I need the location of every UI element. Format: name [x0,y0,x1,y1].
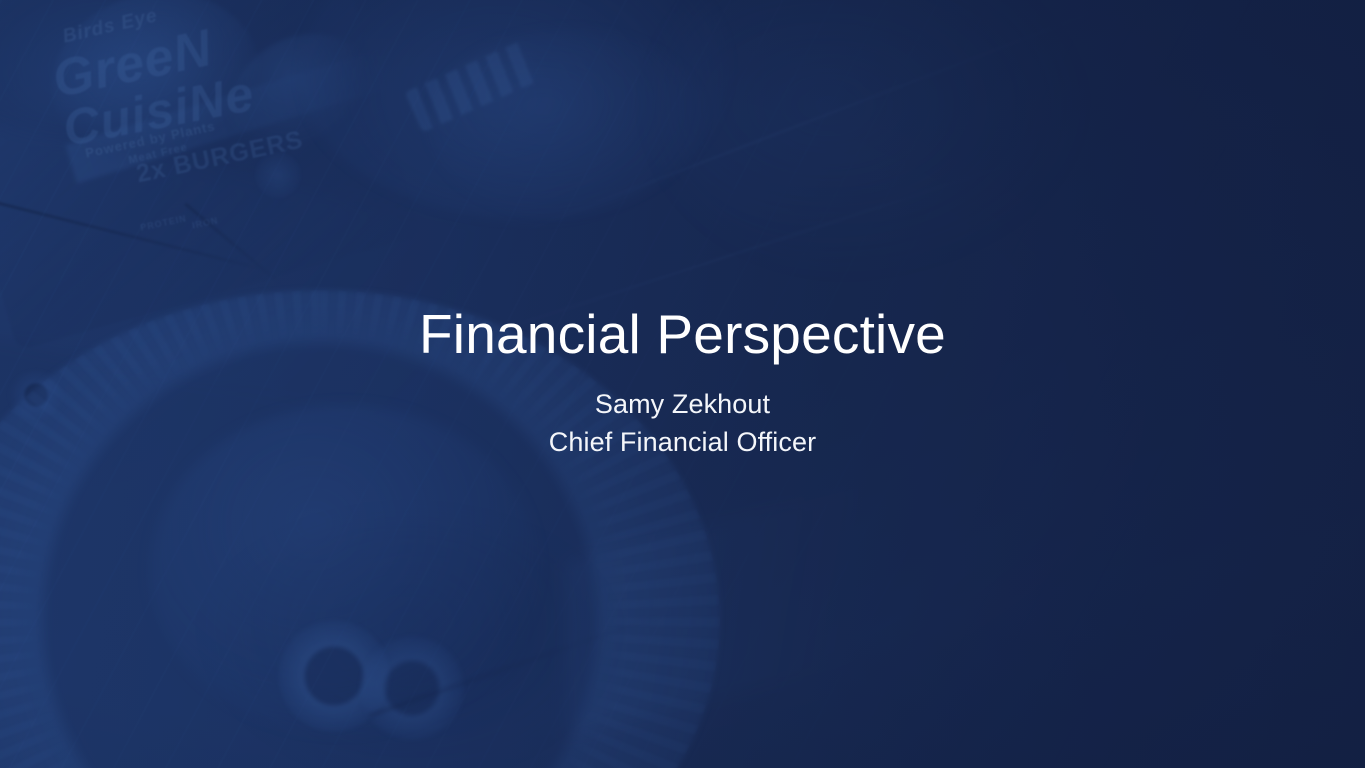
plate-lower-edge [368,606,681,717]
presenter-block: Samy Zekhout Chief Financial Officer [0,385,1365,461]
top-burger-shape [300,0,730,220]
page-title: Financial Perspective [0,302,1365,366]
chips-row-shape [405,39,542,132]
board-edge-line [0,196,266,271]
board-edge-line-2 [184,203,286,289]
top-right-glow [660,0,1080,270]
pack-claim-iron: IRON [191,215,219,230]
top-burger-bun [430,30,710,220]
plate-shadow [200,520,620,768]
onion-ring-2 [360,636,464,740]
pack-claim-protein: PROTEIN [139,213,187,233]
onion-ring-1 [278,620,390,732]
presenter-role: Chief Financial Officer [0,423,1365,461]
title-text-block: Financial Perspective Samy Zekhout Chief… [0,302,1365,461]
diagonal-streak-c [565,474,914,736]
diagonal-streak-a [520,9,1100,233]
title-slide: Birds Eye GreeN CuisiNe Powered by Plant… [0,0,1365,768]
presenter-name: Samy Zekhout [0,385,1365,423]
